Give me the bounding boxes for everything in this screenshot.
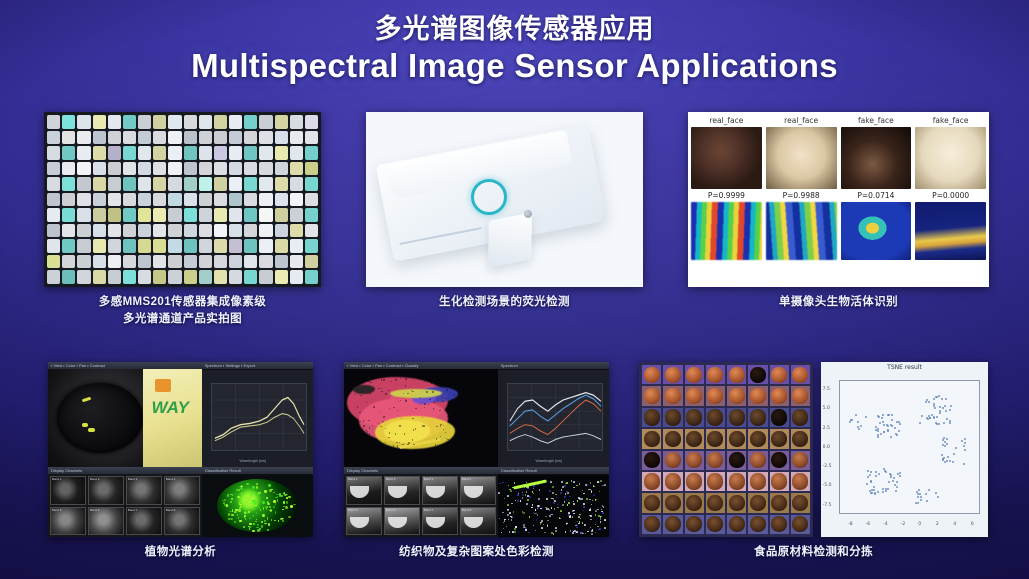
fabric-texture-dot [378,388,379,389]
face-heatmap-cell [691,202,762,260]
food-sample [771,409,787,425]
fabric-texture-dot [481,421,482,422]
scatter-point [926,399,928,401]
food-sample [644,516,660,532]
scatter-point [893,477,895,479]
classification-point [538,498,540,500]
band-thumbnail-label: Band 7 [424,508,434,512]
fabric-texture-dot [440,424,441,425]
classification-point [514,482,516,484]
false-color-speck [232,494,234,496]
false-color-speck [239,520,242,522]
classification-point [598,515,600,517]
sensor-pixel [214,224,227,238]
false-color-map [217,479,297,532]
classification-point [591,533,593,535]
sensor-pixel [47,270,60,284]
scatter-point [949,460,951,462]
band-thumbnail[interactable]: Band 6 [88,507,124,536]
sensor-pixel [62,146,75,160]
food-sample [665,473,681,489]
band-thumbnail[interactable]: Band 3 [422,476,458,505]
fabric-texture-dot [440,436,441,437]
food-sample [707,452,723,468]
sensor-pixel [153,239,166,253]
sensor-pixel [275,270,288,284]
classification-point [600,480,602,482]
classification-point [515,500,517,502]
panel-caption-textile: 纺织物及复杂图案处色彩检测 [344,544,609,561]
sensor-pixel [138,162,151,176]
false-color-speck [262,501,265,504]
sensor-pixel [184,270,197,284]
camera-view: WAY [48,369,202,467]
sensor-pixel [168,193,181,207]
classification-point [568,502,570,504]
scatter-point [898,430,900,432]
scatter-point [934,407,936,409]
scatter-point [890,436,892,438]
scatter-point [945,398,947,400]
sensor-pixel [77,193,90,207]
classification-point [584,524,586,526]
classification-point [527,495,529,497]
spectrum-chart: Wavelength (nm) [202,369,313,467]
food-sample-cell [706,515,725,534]
false-color-speck [231,514,234,516]
band-thumbnail[interactable]: Band 7 [126,507,162,536]
sensor-pixel [259,239,272,253]
band-thumbnail[interactable]: Band 4 [164,476,200,505]
textile-view-pane: ▪ View ▪ Color ▪ Pan ▪ Contrast ▪ Classi… [344,362,498,467]
sensor-pixel [108,146,121,160]
food-sample [686,431,702,447]
sensor-pixel [123,208,136,222]
fabric-texture-dot [390,371,391,372]
sensor-pixel [199,239,212,253]
classification-point [569,516,571,518]
classification-point [541,527,543,529]
fabric-texture-dot [452,421,453,422]
food-sample-cell [748,386,767,405]
food-sample [792,495,808,511]
food-sample-cell [727,429,746,448]
scatter-point [917,496,919,498]
scatter-point [881,417,883,419]
false-color-speck [261,525,263,528]
food-sample [750,431,766,447]
fabric-texture-dot [447,439,448,440]
false-color-speck [224,499,227,501]
classification-point [544,532,546,534]
sensor-pixel [259,146,272,160]
sensor-pixel [47,208,60,222]
food-sample [665,516,681,532]
scatter-point [952,461,954,463]
sensor-pixel [184,162,197,176]
sensor-pixel [77,239,90,253]
scatter-point [949,422,951,424]
food-sample-cell [727,386,746,405]
food-sample [644,473,660,489]
scatter-point [949,409,951,411]
classification-point [550,481,552,483]
fabric-texture-dot [369,427,370,428]
false-color-speck [258,507,261,509]
food-sample-cell [685,515,704,534]
sensor-pixel [305,270,318,284]
classification-point [583,493,585,495]
scatter-point [925,401,927,403]
face-heatmap [915,202,986,260]
fabric-texture-dot [365,435,366,436]
scatter-point [933,417,935,419]
band-thumbnail-label: Band 6 [90,508,100,512]
scatter-y-tick: 5.0 [823,406,830,411]
classification-point [535,509,537,511]
sensor-pixel [168,115,181,129]
petri-dish [57,383,143,454]
face-results-grid: real_faceP=0.9999real_faceP=0.9988fake_f… [688,112,989,287]
band-thumbnail[interactable]: Band 2 [88,476,124,505]
classification-point [546,498,548,500]
false-color-speck [256,484,259,485]
fabric-texture-dot [350,432,351,433]
band-thumbnail[interactable]: Band 8 [460,507,496,536]
sensor-pixel [244,115,257,129]
fabric-texture-dot [433,402,434,403]
fabric-texture-dot [483,370,484,371]
classification-point [508,519,510,521]
classification-point [559,517,561,519]
band-thumbnail[interactable]: Band 5 [50,507,86,536]
classification-point [590,515,592,517]
scatter-point [877,491,879,493]
sensor-pixel [214,270,227,284]
classification-point [535,530,537,532]
sensor-pixel [153,208,166,222]
sensor-pixel [259,193,272,207]
sensor-pixel [214,208,227,222]
fabric-texture-dot [485,417,486,418]
band-thumbnail[interactable]: Band 2 [384,476,420,505]
band-thumbnail-label: Band 5 [348,508,358,512]
sensor-pixel [259,162,272,176]
classification-point [588,529,590,531]
sensor-pixel [244,208,257,222]
classification-point [561,489,563,491]
calibration-bar [513,479,547,489]
scatter-point [899,472,901,474]
band-thumbnail-label: Band 3 [424,477,434,481]
sensor-pixel [229,162,242,176]
sensor-pixel [47,224,60,238]
sensor-pixel [153,224,166,238]
sensor-pixel [153,177,166,191]
classification-point [539,489,541,491]
food-sample [707,388,723,404]
face-heatmap [841,202,912,260]
sensor-pixel [123,162,136,176]
fabric-texture-dot [459,396,460,397]
sensor-pixel [62,193,75,207]
classification-point [522,492,524,494]
sensor-pixel [305,162,318,176]
food-sample [771,431,787,447]
scatter-point [935,396,937,398]
fabric-texture-dot [370,382,371,383]
false-color-speck [248,526,249,527]
fabric-texture-dot [432,391,433,392]
classification-point [597,481,599,483]
scatter-point [947,456,949,458]
brand-mark [155,379,171,392]
food-sample [771,367,787,383]
sensor-pixel [138,239,151,253]
band-thumbnail[interactable]: Band 8 [164,507,200,536]
scatter-point [926,500,928,502]
false-color-speck [228,518,230,520]
false-color-speck [286,497,288,498]
scatter-point [883,424,885,426]
face-label: fake_face [858,116,894,125]
false-color-speck [256,486,258,489]
sensor-pixel [168,146,181,160]
sensor-pixel [305,193,318,207]
false-color-speck [231,498,233,501]
scatter-point [896,434,898,436]
false-color-speck [277,499,278,502]
classification-point [514,528,516,530]
sensor-pixel [184,146,197,160]
scatter-point [860,425,862,427]
plant-classification-pane: Classification Result [202,467,313,537]
classification-point [564,496,566,498]
food-sample [771,388,787,404]
fabric-texture-dot [449,449,450,450]
panel-caption-sensor: 多感MMS201传感器集成像素级 多光谱通道产品实拍图 [44,294,321,327]
false-color-speck [266,507,267,510]
food-sample-cell [727,451,746,470]
fabric-texture-dot [393,407,394,408]
fabric-texture-dot [485,383,486,384]
food-sample-cell [791,429,810,448]
sensor-pixel [168,224,181,238]
fluorescence-device-image [366,112,643,287]
sensor-pixel [153,131,166,145]
fabric-texture-dot [452,370,453,371]
face-probability: P=0.0000 [932,191,969,200]
sensor-pixel [229,131,242,145]
false-color-speck [260,509,261,512]
page-title-en: Multispectral Image Sensor Applications [0,48,1029,84]
face-probability: P=0.9999 [708,191,745,200]
food-sample-cell [748,429,767,448]
scatter-point [858,428,860,430]
sensor-pixel [229,146,242,160]
scatter-point [918,489,920,491]
scatter-point [920,499,922,501]
sensor-pixel [62,239,75,253]
sensor-pixel [93,115,106,129]
false-color-speck [238,517,239,519]
fabric-texture-dot [446,408,447,409]
band-thumbnail-label: Band 4 [166,477,176,481]
food-sample [686,367,702,383]
food-sample-grid-image [639,362,813,537]
classification-point [554,500,556,502]
sensor-pixel [123,270,136,284]
sensor-pixel [305,208,318,222]
band-thumbnail[interactable]: Band 3 [126,476,162,505]
fabric-texture-dot [432,370,433,371]
fabric-texture-dot [447,448,448,449]
food-sample [644,409,660,425]
fabric-texture-dot [353,432,354,433]
sensor-pixel [153,193,166,207]
fabric-texture-dot [461,445,462,446]
band-thumbnail[interactable]: Band 7 [422,507,458,536]
scatter-point [955,447,957,449]
sensor-pixel [168,270,181,284]
sensor-pixel [62,208,75,222]
sensor-pixel [229,239,242,253]
classification-point [571,480,573,482]
sensor-pixel [229,115,242,129]
sensor-pixel [108,162,121,176]
sensor-pixel [108,224,121,238]
false-color-speck [257,529,260,532]
fabric-texture-dot [422,402,423,403]
fabric-texture-dot [468,406,469,407]
food-sample-cell [706,472,725,491]
food-sample [665,495,681,511]
food-sample [644,367,660,383]
fabric-texture-dot [483,442,484,443]
classification-point [509,531,511,533]
band-thumbnail[interactable]: Band 1 [346,476,382,505]
fabric-texture-dot [459,434,460,435]
sensor-pixel [244,177,257,191]
classification-point [581,498,583,500]
sensor-pixel [244,239,257,253]
food-sample [665,452,681,468]
false-color-speck [257,498,259,500]
sensor-pixel [184,177,197,191]
classification-point [601,511,603,513]
classification-point [526,503,528,505]
band-feature [388,517,407,529]
food-sample [707,431,723,447]
fabric-texture-dot [469,441,470,442]
fabric-texture-dot [461,375,462,376]
classification-point [586,498,588,500]
sensor-pixel [168,208,181,222]
classification-point [599,528,601,530]
fabric-texture-dot [476,394,477,395]
false-color-speck [249,523,252,524]
sensor-pixel [123,131,136,145]
false-color-speck [237,514,238,516]
spectral-software-window: ▪ View ▪ Color ▪ Pan ▪ Contrast WAY [48,362,313,537]
sensor-pixel [305,115,318,129]
fabric-texture-dot [440,425,441,426]
scatter-point [928,415,930,417]
band-thumbnail-label: Band 8 [462,508,472,512]
fabric-texture-dot [461,450,462,451]
classification-point [513,511,515,513]
classification-point [560,492,562,494]
fabric-texture-dot [476,435,477,436]
false-color-speck [226,504,228,507]
scatter-point [877,434,879,436]
fabric-false-color [344,369,498,467]
scatter-point [928,489,930,491]
scatter-point [875,471,877,473]
sensor-pixel [214,177,227,191]
false-color-speck [267,517,268,520]
spectral-curves-svg [508,384,603,451]
sensor-pixel [138,146,151,160]
band-thumbnail[interactable]: Band 1 [50,476,86,505]
scatter-point [963,463,965,465]
fabric-texture-dot [424,425,425,426]
food-sample [771,473,787,489]
scatter-point [933,398,935,400]
chart-x-axis-label: Wavelength (nm) [240,459,267,463]
fabric-texture-dot [480,377,481,378]
page-title-cn: 多光谱图像传感器应用 [0,14,1029,44]
band-thumbnail[interactable]: Band 5 [346,507,382,536]
scatter-point [887,430,889,432]
fabric-texture-dot [391,370,392,371]
false-color-speck [290,505,293,508]
fabric-texture-dot [368,420,369,421]
classification-point [595,524,597,526]
false-color-speck [236,511,237,513]
classification-point [589,509,591,511]
fabric-texture-dot [460,424,461,425]
lab-device-photo [366,112,643,287]
scatter-point [888,481,890,483]
false-color-speck [244,512,246,514]
food-sample [686,473,702,489]
classification-point [525,529,527,531]
classification-point [591,504,593,506]
sensor-pixel [123,146,136,160]
fabric-texture-dot [448,371,449,372]
scatter-point [894,427,896,429]
food-sample-cell [748,408,767,427]
false-color-speck [243,526,245,528]
false-color-speck [284,494,287,496]
classification-point [592,500,594,502]
classification-point [578,523,580,525]
scatter-point [892,480,894,482]
band-thumbnail[interactable]: Band 6 [384,507,420,536]
classification-point [565,531,567,533]
food-sample [750,516,766,532]
food-sample-cell [685,429,704,448]
food-sample-cell [727,515,746,534]
fabric-texture-dot [465,403,466,404]
classification-point [604,519,606,521]
classification-point [568,512,570,514]
band-thumbnail[interactable]: Band 4 [460,476,496,505]
fabric-texture-dot [449,420,450,421]
fabric-texture-dot [436,438,437,439]
food-sample [729,473,745,489]
